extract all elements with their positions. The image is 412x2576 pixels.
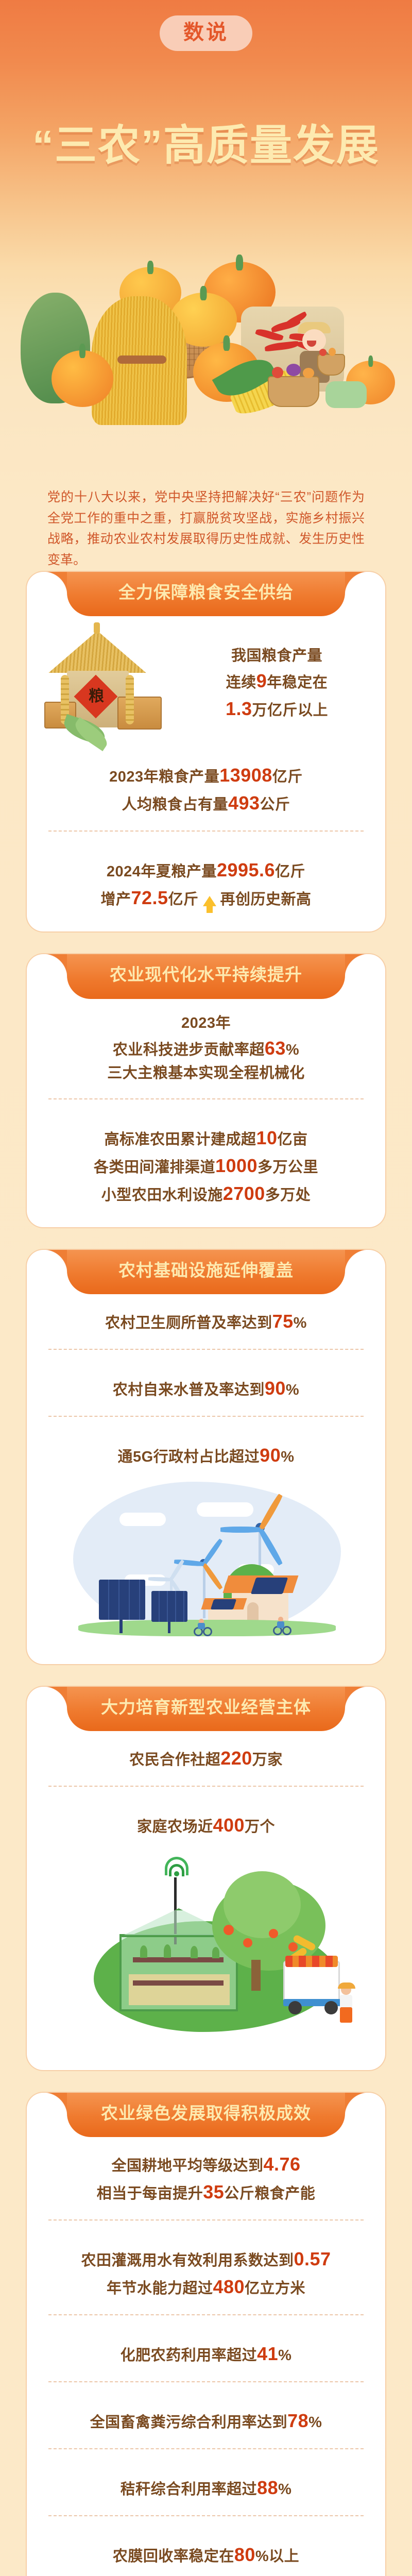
tomato-icon — [272, 367, 283, 378]
stat-group: 全国耕地平均等级达到4.76 相当于每亩提升35公斤粮食产能 — [27, 2137, 385, 2208]
fruit-crate — [285, 1956, 338, 1967]
vegetable-basket-icon — [268, 376, 319, 407]
solar-wind-village-illustration — [42, 1477, 370, 1647]
grain-house-illustration: 粮 — [40, 619, 177, 748]
fruit-icon — [288, 1942, 298, 1952]
stat-group: 农膜回收率稳定在80%以上 — [27, 2528, 385, 2571]
smart-greenhouse-illustration — [42, 1846, 370, 2053]
stat-group: 家庭农场近400万个 — [27, 1798, 385, 1841]
section-title-green-development: 农业绿色发展取得积极成效 — [67, 2093, 345, 2137]
stat-group: 全国畜禽粪污综合利用率达到78% — [27, 2394, 385, 2437]
stat-line: 家庭农场近400万个 — [47, 1811, 365, 1839]
divider — [48, 831, 364, 832]
stat-line: 高标准农田累计建成超10亿亩 — [47, 1124, 365, 1152]
wifi-icon — [165, 1854, 188, 1877]
highlight-line: 我国粮食产量 — [182, 645, 372, 668]
highlight-line: 1.3万亿斤以上 — [182, 695, 372, 723]
stat-group: 高标准农田累计建成超10亿亩 各类田间灌排渠道1000多万公里 小型农田水利设施… — [27, 1111, 385, 1210]
infographic-poster: 数说 “三农”高质量发展 — [0, 0, 412, 2576]
stat-line: 人均粮食占有量493公斤 — [47, 789, 365, 817]
stat-line: 农民合作社超220万家 — [47, 1744, 365, 1772]
farm-worker-icon — [337, 1985, 357, 2024]
stat-line: 通5G行政村占比超过90% — [47, 1442, 365, 1469]
divider — [48, 2515, 364, 2516]
page-title: “三农”高质量发展 — [0, 111, 412, 172]
intro-paragraph: 党的十八大以来，党中央坚持把解决好“三农”问题作为全党工作的重中之重，打赢脱贫攻… — [47, 487, 365, 570]
grain-house-row: 粮 我国粮食产量 连续9年稳定在 1.3万亿斤以上 — [27, 616, 385, 748]
section-card-green-development: 农业绿色发展取得积极成效 全国耕地平均等级达到4.76 相当于每亩提升35公斤粮… — [27, 2093, 385, 2576]
stat-line: 各类田间灌排渠道1000多万公里 — [47, 1152, 365, 1180]
section-card-rural-infrastructure: 农村基础设施延伸覆盖 农村卫生厕所普及率达到75% 农村自来水普及率达到90% … — [27, 1250, 385, 1664]
stat-line: 农村卫生厕所普及率达到75% — [47, 1308, 365, 1335]
stat-group: 化肥农药利用率超过41% — [27, 2327, 385, 2370]
fruit-icon — [224, 1925, 234, 1935]
melon-icon — [325, 381, 367, 408]
stat-group: 农村卫生厕所普及率达到75% — [27, 1294, 385, 1337]
section-card-new-business-entities: 大力培育新型农业经营主体 农民合作社超220万家 家庭农场近400万个 — [27, 1687, 385, 2070]
stat-line: 秸秆综合利用率超过88% — [47, 2474, 365, 2502]
stat-line: 农村自来水普及率达到90% — [47, 1375, 365, 1402]
stat-line: 年节水能力超过480亿立方米 — [47, 2273, 365, 2301]
section-title-new-business-entities: 大力培育新型农业经营主体 — [67, 1687, 345, 1731]
stat-line: 增产72.5亿斤再创历史新高 — [47, 884, 365, 912]
stat-line: 2023年 — [47, 1012, 365, 1035]
stat-line: 三大主粮基本实现全程机械化 — [47, 1062, 365, 1085]
stat-group: 农民合作社超220万家 — [27, 1731, 385, 1774]
section-card-grain-security: 全力保障粮食安全供给 粮 我国粮食产量 连续9年稳定在 1.3万亿斤以上 — [27, 572, 385, 931]
divider — [48, 2381, 364, 2382]
stat-line: 小型农田水利设施2700多万处 — [47, 1180, 365, 1208]
grain-highlight-panel: 我国粮食产量 连续9年稳定在 1.3万亿斤以上 — [182, 645, 372, 723]
section-card-modernization: 农业现代化水平持续提升 2023年 农业科技进步贡献率超63% 三大主粮基本实现… — [27, 954, 385, 1227]
stat-line: 化肥农药利用率超过41% — [47, 2340, 365, 2368]
divider — [48, 1098, 364, 1099]
fruit-icon — [269, 1929, 278, 1938]
section-title-grain-security: 全力保障粮食安全供给 — [67, 572, 345, 616]
divider — [48, 2314, 364, 2315]
divider — [48, 2219, 364, 2221]
section-title-rural-infrastructure: 农村基础设施延伸覆盖 — [67, 1250, 345, 1294]
stat-line: 全国畜禽粪污综合利用率达到78% — [47, 2407, 365, 2435]
divider — [48, 1349, 364, 1350]
stat-group: 2023年粮食产量13908亿斤 人均粮食占有量493公斤 — [27, 748, 385, 819]
harvest-illustration — [0, 206, 412, 474]
fruit-icon — [243, 1938, 252, 1947]
divider — [48, 1786, 364, 1787]
section-title-modernization: 农业现代化水平持续提升 — [67, 954, 345, 998]
divider — [48, 2448, 364, 2449]
divider — [48, 1416, 364, 1417]
stat-line: 2023年粮食产量13908亿斤 — [47, 761, 365, 789]
series-badge: 数说 — [160, 15, 252, 51]
stat-group: 秸秆综合利用率超过88% — [27, 2461, 385, 2504]
stat-group: 农田灌溉用水有效利用系数达到0.57 年节水能力超过480亿立方米 — [27, 2232, 385, 2303]
highlight-line: 连续9年稳定在 — [182, 667, 372, 695]
wheat-tie — [117, 355, 166, 364]
stat-line: 相当于每亩提升35公斤粮食产能 — [47, 2178, 365, 2206]
cyclist-icon — [272, 1615, 291, 1636]
pumpkin-icon — [51, 350, 113, 407]
harvest-robot-icon — [283, 1961, 340, 2002]
eggplant-icon — [286, 364, 301, 376]
stat-line: 农业科技进步贡献率超63% — [47, 1035, 365, 1062]
stat-group: 2023年 农业科技进步贡献率超63% 三大主粮基本实现全程机械化 — [27, 999, 385, 1087]
stat-group: 通5G行政村占比超过90% — [27, 1428, 385, 1471]
stat-line: 农膜回收率稳定在80%以上 — [47, 2541, 365, 2569]
stat-line: 农田灌溉用水有效利用系数达到0.57 — [47, 2245, 365, 2273]
cyclist-icon — [193, 1617, 212, 1636]
stat-line: 全国耕地平均等级达到4.76 — [47, 2150, 365, 2178]
orange-icon — [303, 368, 314, 378]
stat-line: 2024年夏粮产量2995.6亿斤 — [47, 856, 365, 884]
arrow-up-icon — [203, 896, 216, 906]
stat-group: 农村自来水普及率达到90% — [27, 1361, 385, 1404]
stat-group: 2024年夏粮产量2995.6亿斤 增产72.5亿斤再创历史新高 — [27, 843, 385, 914]
hero-section: 数说 “三农”高质量发展 — [0, 0, 412, 572]
